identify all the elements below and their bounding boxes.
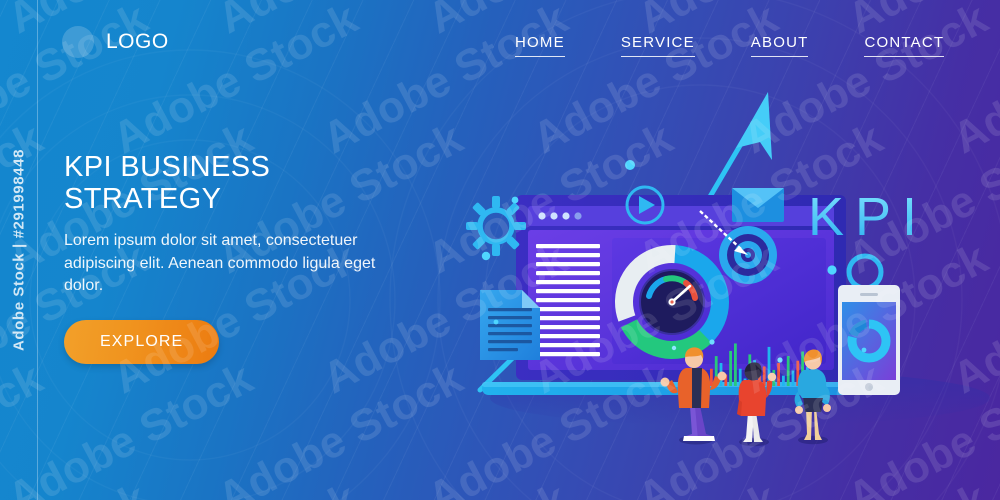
main-nav: HOME SERVICE ABOUT CONTACT	[515, 34, 944, 57]
page-canvas: KPI	[0, 0, 1000, 500]
hero-body-text: Lorem ipsum dolor sit amet, consectetuer…	[64, 230, 404, 298]
nav-item-about[interactable]: ABOUT	[751, 34, 809, 57]
circle-logo-mark-icon	[62, 26, 94, 58]
kpi-illustration: KPI	[460, 60, 1000, 500]
nav-item-service[interactable]: SERVICE	[621, 34, 695, 57]
stock-id-strip: Adobe Stock | #291998448	[0, 0, 38, 500]
kpi-wordmark: KPI	[808, 187, 928, 247]
stock-id-text: Adobe Stock | #291998448	[10, 149, 27, 351]
logo[interactable]: LOGO	[62, 26, 169, 58]
hero-section: KPI BUSINESS STRATEGY Lorem ipsum dolor …	[64, 152, 404, 364]
nav-item-home[interactable]: HOME	[515, 34, 565, 57]
nav-item-contact[interactable]: CONTACT	[864, 34, 944, 57]
envelope-icon	[732, 188, 784, 222]
gear-icon	[466, 196, 526, 256]
logo-text: LOGO	[106, 30, 169, 54]
smartphone-icon	[838, 285, 900, 395]
explore-button[interactable]: EXPLORE	[64, 320, 219, 364]
document-icon	[480, 290, 540, 360]
page-title: KPI BUSINESS STRATEGY	[64, 152, 404, 216]
